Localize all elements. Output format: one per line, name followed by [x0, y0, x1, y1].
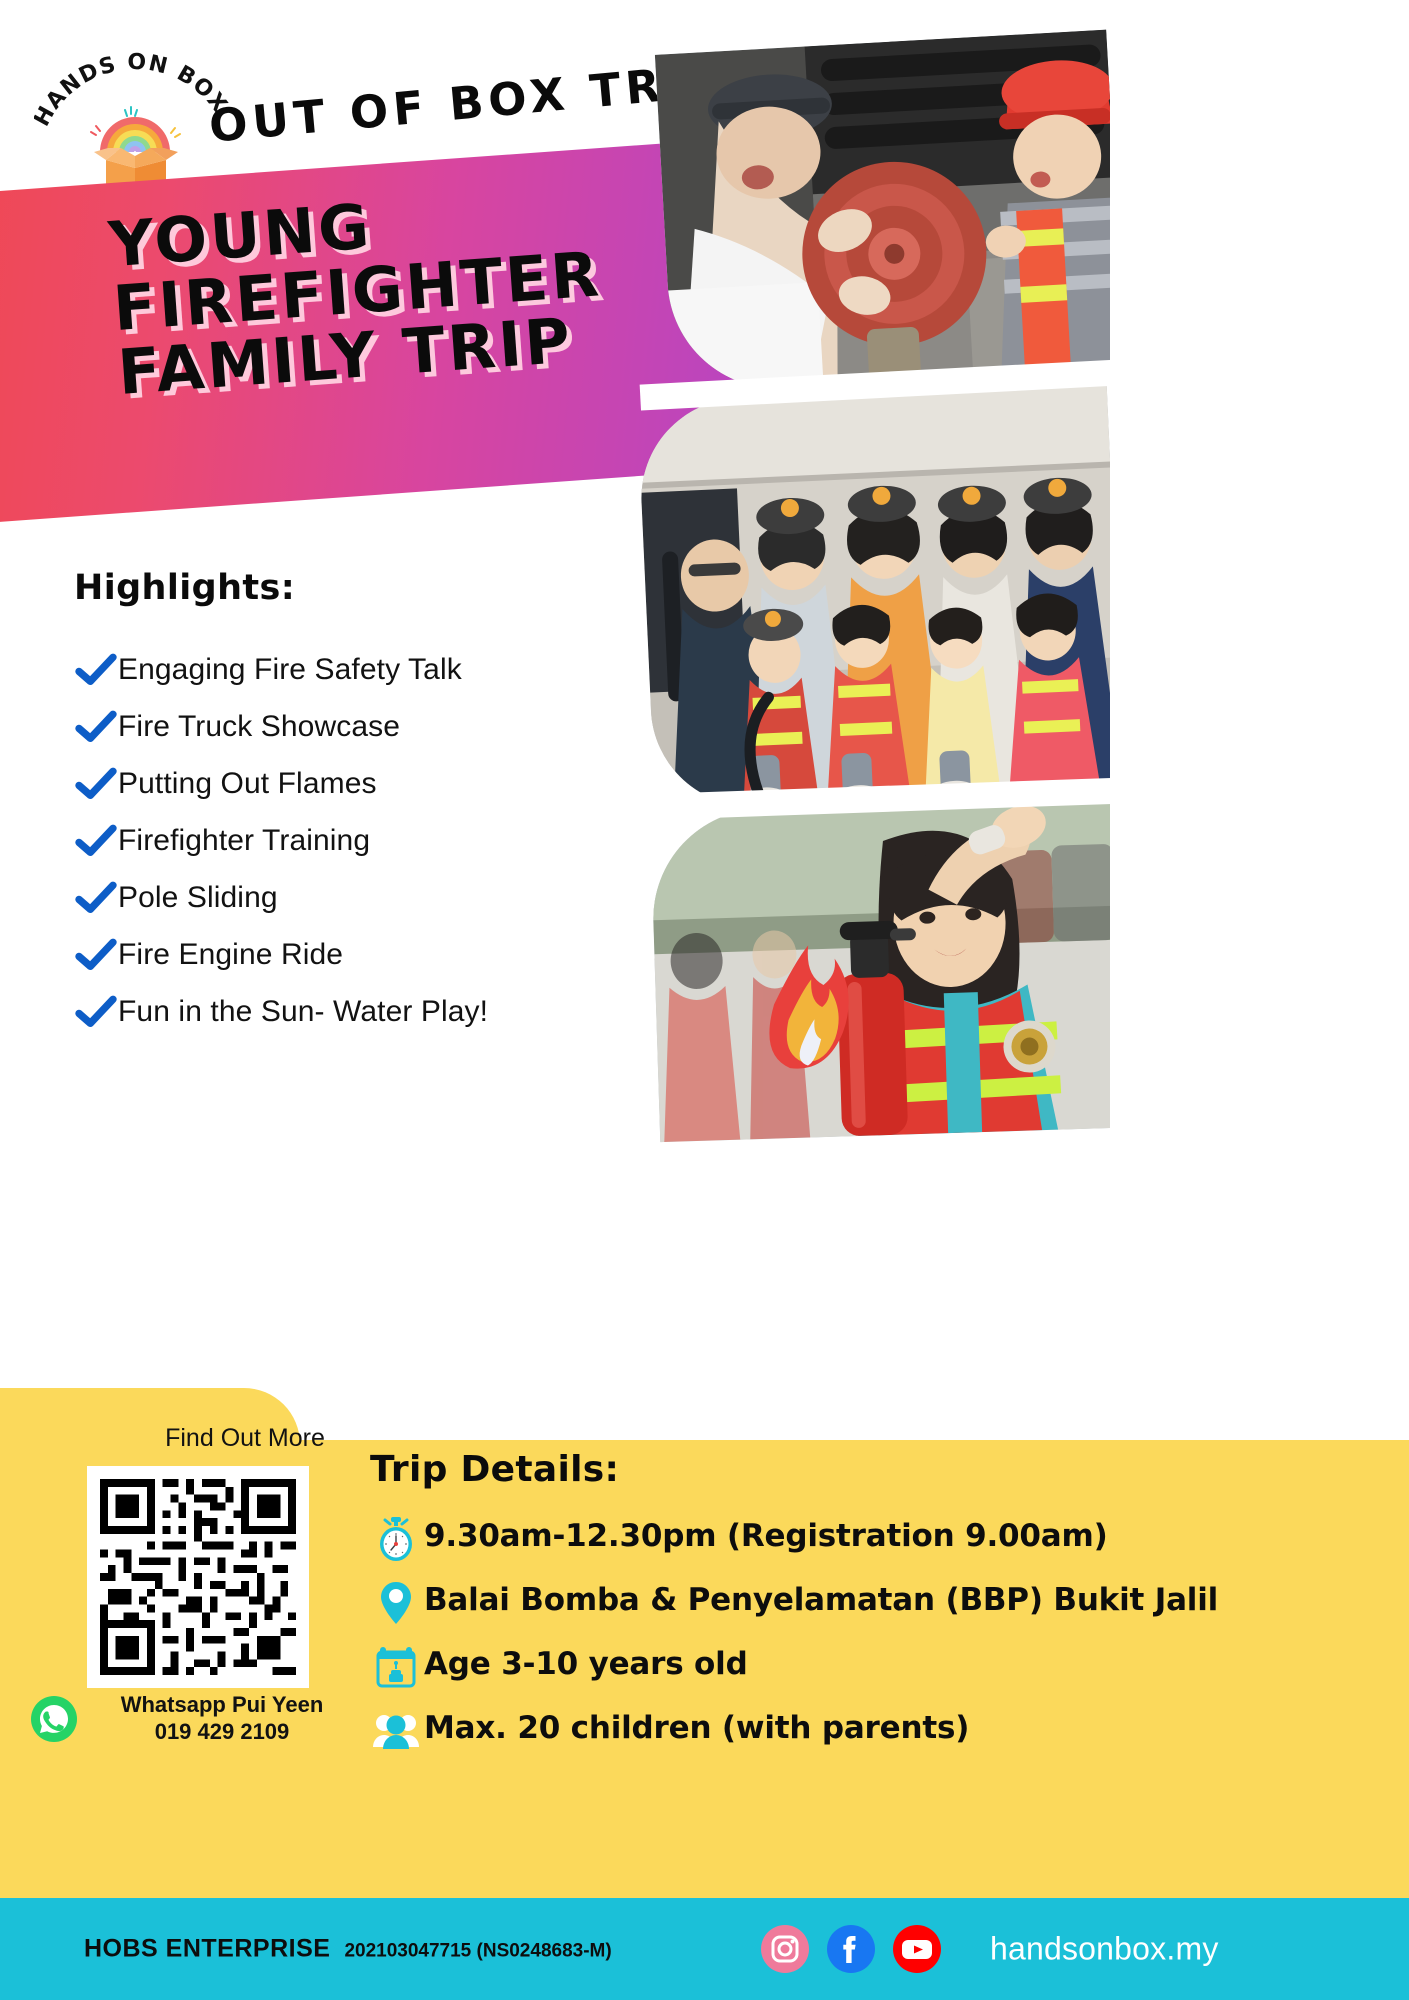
whatsapp-text: Whatsapp Pui Yeen 019 429 2109 [84, 1692, 360, 1746]
footer-company-block: HOBS ENTERPRISE 202103047715 (NS0248683-… [84, 1935, 612, 1964]
footer-website[interactable]: handsonbox.my [990, 1931, 1219, 1968]
check-icon [74, 995, 118, 1029]
photo-families-inside-fire-truck [637, 382, 1125, 811]
page-title: YOUNG FIREFIGHTER FAMILY TRIP [107, 171, 719, 405]
check-icon [74, 938, 118, 972]
detail-row-age: Age 3-10 years old [368, 1641, 1368, 1693]
highlights-list: Engaging Fire Safety Talk Fire Truck Sho… [74, 641, 634, 1040]
footer-company-name: HOBS ENTERPRISE [84, 1935, 330, 1964]
header-kicker: OUT OF BOX TRIP [207, 53, 727, 153]
youtube-icon[interactable] [892, 1924, 942, 1974]
whatsapp-icon [30, 1695, 78, 1743]
calendar-cake-icon [368, 1641, 424, 1693]
list-item: Engaging Fire Safety Talk [74, 641, 634, 698]
list-item: Firefighter Training [74, 812, 634, 869]
detail-row-capacity-text: Max. 20 children (with parents) [424, 1705, 969, 1749]
list-item: Putting Out Flames [74, 755, 634, 812]
check-icon [74, 767, 118, 801]
detail-row-age-text: Age 3-10 years old [424, 1641, 748, 1685]
find-out-more-label: Find Out More [110, 1424, 380, 1453]
list-item-label: Fire Truck Showcase [118, 710, 400, 744]
check-icon [74, 881, 118, 915]
highlights-heading: Highlights: [74, 568, 295, 608]
check-icon [74, 824, 118, 858]
footer-registration: 202103047715 (NS0248683-M) [344, 1941, 611, 1963]
photo-girl-with-extinguisher [650, 798, 1122, 1142]
stopwatch-icon [368, 1513, 424, 1565]
trip-details-heading: Trip Details: [370, 1449, 619, 1490]
list-item: Fire Truck Showcase [74, 698, 634, 755]
poster-canvas: HANDS ON BOX [0, 0, 1409, 2000]
list-item-label: Fire Engine Ride [118, 938, 343, 972]
detail-row-location-text: Balai Bomba & Penyelamatan (BBP) Bukit J… [424, 1577, 1218, 1621]
check-icon [74, 653, 118, 687]
qr-code[interactable] [87, 1466, 309, 1688]
list-item: Fire Engine Ride [74, 926, 634, 983]
check-icon [74, 710, 118, 744]
photo-child-with-fire-hose [655, 30, 1125, 395]
detail-row-capacity: Max. 20 children (with parents) [368, 1705, 1368, 1757]
detail-row-location: Balai Bomba & Penyelamatan (BBP) Bukit J… [368, 1577, 1368, 1629]
instagram-icon[interactable] [760, 1924, 810, 1974]
whatsapp-name: Whatsapp Pui Yeen [84, 1692, 360, 1719]
list-item-label: Pole Sliding [118, 881, 278, 915]
people-group-icon [368, 1705, 424, 1757]
brand-logo: HANDS ON BOX [34, 38, 234, 198]
location-pin-icon [368, 1577, 424, 1629]
detail-row-time: 9.30am-12.30pm (Registration 9.00am) [368, 1513, 1368, 1565]
title-banner: YOUNG FIREFIGHTER FAMILY TRIP [0, 140, 742, 526]
footer-bar: HOBS ENTERPRISE 202103047715 (NS0248683-… [0, 1898, 1409, 2000]
whatsapp-contact[interactable]: Whatsapp Pui Yeen 019 429 2109 [30, 1692, 360, 1746]
list-item-label: Firefighter Training [118, 824, 370, 858]
list-item: Fun in the Sun- Water Play! [74, 983, 634, 1040]
list-item-label: Engaging Fire Safety Talk [118, 653, 462, 687]
list-item: Pole Sliding [74, 869, 634, 926]
facebook-icon[interactable] [826, 1924, 876, 1974]
list-item-label: Fun in the Sun- Water Play! [118, 995, 488, 1029]
footer-social-links [760, 1924, 942, 1974]
qr-code-image [100, 1479, 296, 1675]
detail-row-time-text: 9.30am-12.30pm (Registration 9.00am) [424, 1513, 1108, 1557]
photo-right-margin [1110, 0, 1409, 1200]
whatsapp-number: 019 429 2109 [84, 1719, 360, 1746]
trip-details-list: 9.30am-12.30pm (Registration 9.00am) Bal… [368, 1513, 1368, 1769]
list-item-label: Putting Out Flames [118, 767, 377, 801]
